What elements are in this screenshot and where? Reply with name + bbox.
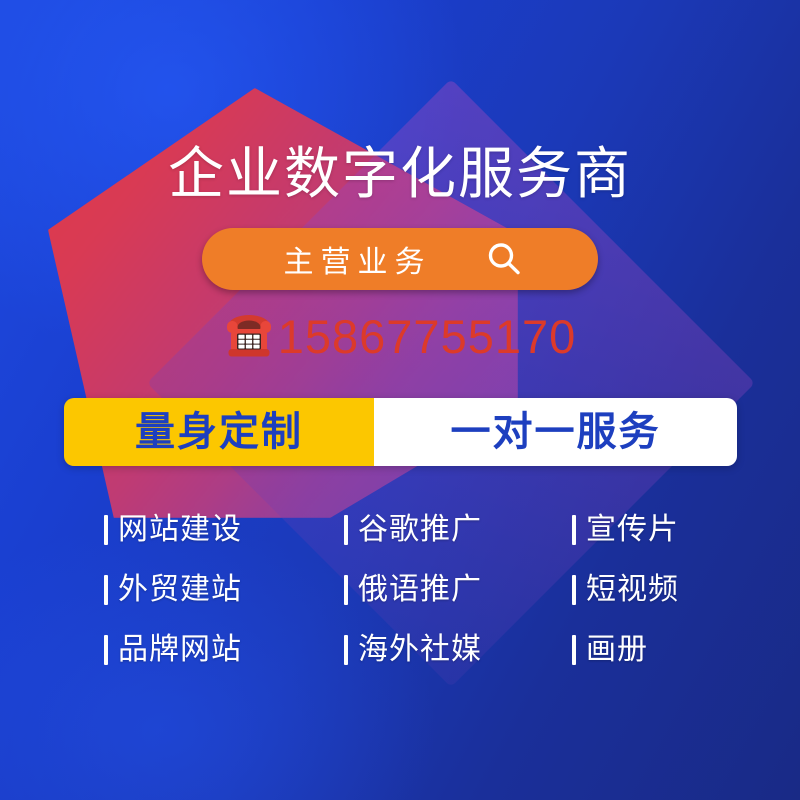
search-icon[interactable] bbox=[484, 239, 524, 279]
service-item-russian-promotion[interactable]: 俄语推广 bbox=[344, 575, 572, 605]
service-label: 短视频 bbox=[586, 575, 679, 605]
phone-number[interactable]: 15867755170 bbox=[278, 313, 577, 360]
service-label: 海外社媒 bbox=[358, 635, 482, 665]
service-list: 网站建设 谷歌推广 宣传片 外贸建站 俄语推广 bbox=[104, 500, 704, 680]
main-business-button[interactable]: 主营业务 bbox=[202, 228, 598, 290]
promo-custom-made-label: 量身定制 bbox=[135, 412, 303, 452]
bar-marker-icon bbox=[344, 515, 348, 545]
bar-marker-icon bbox=[572, 635, 576, 665]
service-row: 网站建设 谷歌推广 宣传片 bbox=[104, 500, 704, 560]
service-label: 外贸建站 bbox=[118, 575, 242, 605]
service-item-short-video[interactable]: 短视频 bbox=[572, 575, 704, 605]
poster-content: 企业数字化服务商 主营业务 bbox=[0, 0, 800, 800]
bar-marker-icon bbox=[344, 635, 348, 665]
service-label: 网站建设 bbox=[118, 515, 242, 545]
bar-marker-icon bbox=[104, 515, 108, 545]
page-title: 企业数字化服务商 bbox=[0, 146, 800, 202]
service-row: 品牌网站 海外社媒 画册 bbox=[104, 620, 704, 680]
service-item-brochure[interactable]: 画册 bbox=[572, 635, 704, 665]
bar-marker-icon bbox=[344, 575, 348, 605]
service-label: 品牌网站 bbox=[118, 635, 242, 665]
service-label: 俄语推广 bbox=[358, 575, 482, 605]
service-item-overseas-social-media[interactable]: 海外社媒 bbox=[344, 635, 572, 665]
contact-row[interactable]: 15867755170 bbox=[0, 312, 800, 360]
service-label: 画册 bbox=[586, 635, 648, 665]
promo-one-on-one-label: 一对一服务 bbox=[451, 412, 661, 452]
promo-one-on-one[interactable]: 一对一服务 bbox=[374, 398, 737, 466]
bar-marker-icon bbox=[572, 575, 576, 605]
service-item-brand-website[interactable]: 品牌网站 bbox=[104, 635, 344, 665]
service-item-foreign-trade-site[interactable]: 外贸建站 bbox=[104, 575, 344, 605]
promo-banner: 量身定制 一对一服务 bbox=[64, 398, 737, 466]
promo-custom-made[interactable]: 量身定制 bbox=[64, 398, 374, 466]
service-row: 外贸建站 俄语推广 短视频 bbox=[104, 560, 704, 620]
service-item-promo-video[interactable]: 宣传片 bbox=[572, 515, 704, 545]
service-label: 谷歌推广 bbox=[358, 515, 482, 545]
telephone-icon bbox=[224, 312, 274, 360]
service-item-website-construction[interactable]: 网站建设 bbox=[104, 515, 344, 545]
promotional-poster: 企业数字化服务商 主营业务 bbox=[0, 0, 800, 800]
bar-marker-icon bbox=[104, 575, 108, 605]
service-item-google-promotion[interactable]: 谷歌推广 bbox=[344, 515, 572, 545]
service-label: 宣传片 bbox=[586, 515, 679, 545]
bar-marker-icon bbox=[104, 635, 108, 665]
main-business-label: 主营业务 bbox=[277, 237, 432, 281]
bar-marker-icon bbox=[572, 515, 576, 545]
